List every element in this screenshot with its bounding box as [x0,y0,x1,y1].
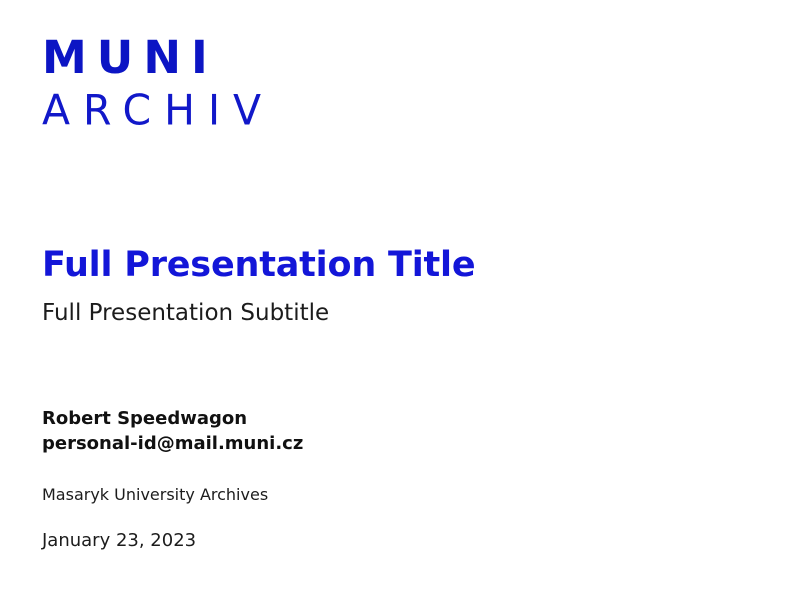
page-subtitle: Full Presentation Subtitle [42,297,742,329]
title-block: Full Presentation Title Full Presentatio… [42,243,742,329]
affiliation-text: Masaryk University Archives [42,483,268,506]
presentation-date: January 23, 2023 [42,528,196,554]
author-name: Robert Speedwagon [42,406,742,431]
page-title: Full Presentation Title [42,243,742,287]
muni-archiv-logo: MUNI ARCHIV [42,33,274,133]
presentation-title-slide: MUNI ARCHIV Full Presentation Title Full… [0,0,794,596]
logo-muni-wordmark: MUNI [42,33,274,83]
author-block: Robert Speedwagon personal-id@mail.muni.… [42,406,742,456]
logo-archiv-wordmark: ARCHIV [42,87,274,134]
author-email: personal-id@mail.muni.cz [42,431,742,456]
